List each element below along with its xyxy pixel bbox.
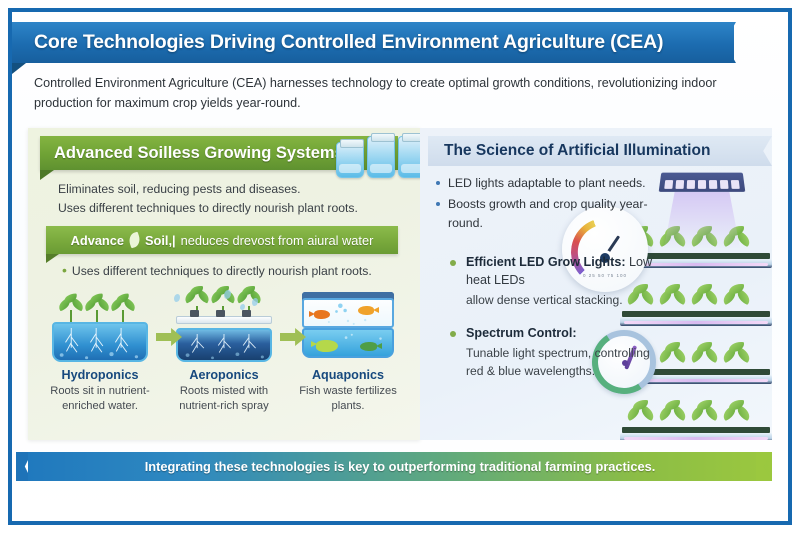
footer-banner: Integrating these technologies is key to… — [28, 452, 772, 481]
left-panel-heading: Advanced Soilless Growing Systems — [40, 144, 344, 163]
left-sub-bullet-text: Uses different techniques to directly no… — [72, 264, 372, 278]
card-description: Roots misted with nutrient-rich spray — [162, 384, 286, 415]
card-description: Roots sit in nutrient-enriched water. — [38, 384, 162, 415]
jar-icon — [336, 142, 364, 178]
card-description: Fish waste fertilizes plants. — [286, 384, 410, 415]
right-panel-bullets: LED lights adaptable to plant needs. Boo… — [434, 174, 664, 235]
right-bullet: LED lights adaptable to plant needs. — [434, 174, 664, 192]
right-item-lead-bold: Efficient LED Grow Lights: — [466, 255, 626, 269]
left-sub-ribbon-fold — [46, 254, 59, 263]
left-panel-lines: Eliminates soil, reducing pests and dise… — [58, 180, 398, 217]
left-heading-fold — [40, 170, 54, 180]
right-item-body: Tunable light spectrum, controlling red … — [466, 344, 668, 380]
footer-text: Integrating these technologies is key to… — [145, 459, 656, 474]
right-item-lead-bold: Spectrum Control: — [466, 326, 577, 340]
intro-paragraph: Controlled Environment Agriculture (CEA)… — [34, 74, 744, 113]
right-bullet: Boosts growth and crop quality year-roun… — [434, 195, 664, 232]
right-panel-heading-ribbon: The Science of Artificial Illumination — [428, 136, 756, 166]
aquaponics-illustration — [294, 288, 402, 364]
card-title: Aeroponics — [162, 368, 286, 382]
card-title: Aquaponics — [286, 368, 410, 382]
right-panel-heading: The Science of Artificial Illumination — [428, 142, 710, 160]
right-panel-heading-ribbon-end — [756, 136, 772, 166]
left-sub-bullet: •Uses different techniques to directly n… — [62, 262, 372, 278]
jar-icon — [367, 136, 395, 178]
left-panel-line: Uses different techniques to directly no… — [58, 199, 398, 218]
right-item-body: allow dense vertical stacking. — [466, 291, 668, 309]
right-panel-items: Efficient LED Grow Lights: Low heat LEDs… — [450, 254, 668, 396]
vertical-farm-shelf — [620, 390, 772, 440]
infographic-poster: Core Technologies Driving Controlled Env… — [0, 0, 800, 533]
right-item-spectrum-control: Spectrum Control: Tunable light spectrum… — [450, 325, 668, 380]
bullet-dot-icon: • — [62, 262, 67, 278]
led-grow-light-icon — [659, 173, 746, 192]
sub-ribbon-rest: neduces drevost from aiural water — [181, 233, 374, 248]
header-banner: Core Technologies Driving Controlled Env… — [12, 22, 734, 63]
right-item-led-grow-lights: Efficient LED Grow Lights: Low heat LEDs… — [450, 254, 668, 309]
card-hydroponics[interactable]: Hydroponics Roots sit in nutrient-enrich… — [38, 288, 162, 433]
hydroponics-illustration — [46, 288, 154, 364]
leaf-icon — [127, 232, 142, 249]
sub-ribbon-mid: Soil,| — [145, 233, 176, 248]
technique-cards: Hydroponics Roots sit in nutrient-enrich… — [38, 288, 410, 433]
jar-icons-group — [336, 130, 432, 178]
left-panel-line: Eliminates soil, reducing pests and dise… — [58, 180, 398, 199]
aeroponics-illustration — [170, 288, 278, 364]
page-title: Core Technologies Driving Controlled Env… — [12, 31, 663, 54]
right-panel-illumination: 0 25 50 75 100 The Science of Artificial… — [420, 128, 772, 440]
card-aeroponics[interactable]: Aeroponics Roots misted with nutrient-ri… — [162, 288, 286, 433]
left-sub-ribbon: Advance Soil,| neduces drevost from aiur… — [46, 226, 398, 254]
led-beam — [664, 192, 740, 248]
card-aquaponics[interactable]: Aquaponics Fish waste fertilizes plants. — [286, 288, 410, 433]
card-title: Hydroponics — [38, 368, 162, 382]
sub-ribbon-prefix: Advance — [71, 233, 124, 248]
left-panel-soilless-systems: Advanced Soilless Growing Systems Elimin… — [28, 128, 420, 440]
